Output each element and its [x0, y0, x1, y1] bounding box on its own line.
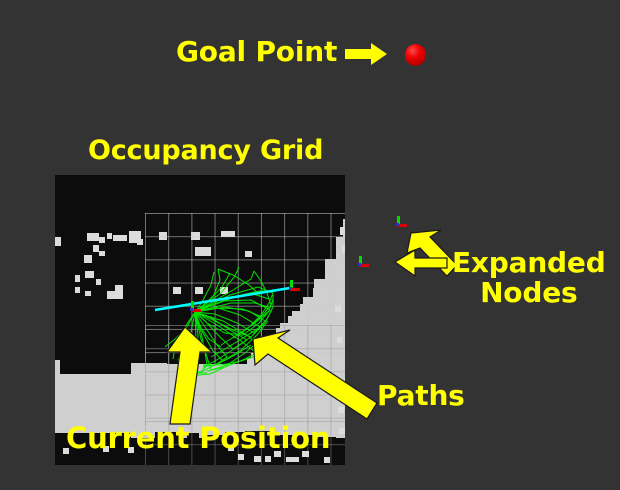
- expanded-nodes-label-line2: Nodes: [452, 278, 606, 308]
- occupancy-grid-label: Occupancy Grid: [88, 136, 323, 165]
- axis-origin: [190, 308, 193, 311]
- goal-point-sphere: [405, 44, 426, 66]
- screenshot-canvas: Goal Point Occupancy Grid: [0, 0, 620, 490]
- axis-origin: [358, 263, 361, 266]
- expanded-nodes-arrow-lower: [395, 250, 447, 276]
- expanded-nodes-label: Expanded Nodes: [452, 248, 606, 308]
- current-position-label: Current Position: [66, 423, 330, 454]
- expanded-nodes-arrow-upper: [407, 230, 457, 276]
- goal-point-label: Goal Point: [176, 37, 337, 67]
- paths-label: Paths: [377, 381, 465, 411]
- axis-origin: [289, 287, 292, 290]
- axis-origin: [396, 223, 399, 226]
- expanded-nodes-label-line1: Expanded: [452, 246, 606, 279]
